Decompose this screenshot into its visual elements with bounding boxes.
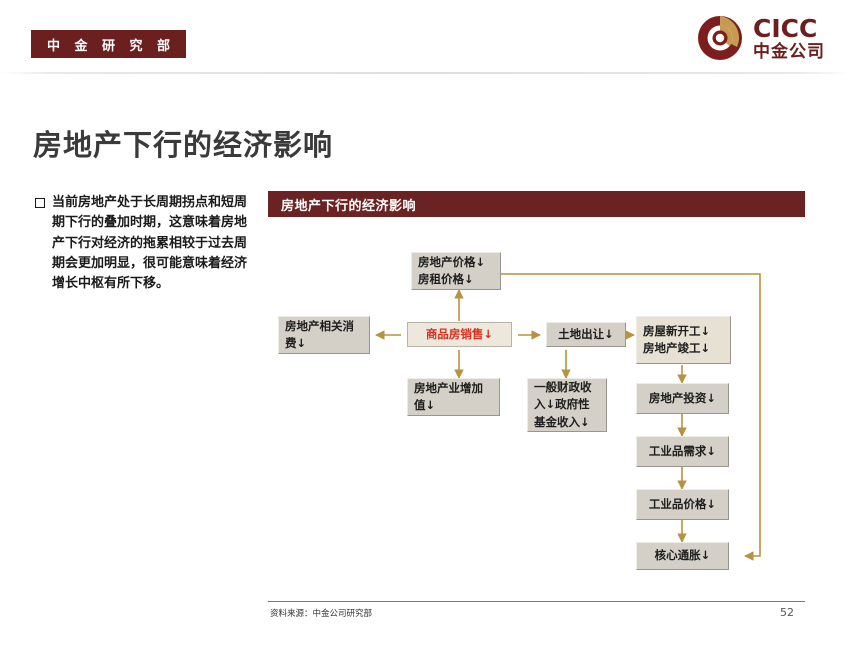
cicc-logo: CICC 中金公司 [696, 12, 825, 64]
cicc-logo-text: CICC 中金公司 [753, 16, 825, 61]
page-title: 房地产下行的经济影响 [33, 122, 333, 164]
square-bullet-icon [35, 198, 45, 208]
bullet-text: 当前房地产处于长周期拐点和短周期下行的叠加时期，这意味着房地产下行对经济的拖累相… [52, 193, 250, 294]
logo-chinese: 中金公司 [753, 44, 825, 61]
logo-latin: CICC [753, 16, 825, 41]
list-item: 当前房地产处于长周期拐点和短周期下行的叠加时期，这意味着房地产下行对经济的拖累相… [35, 193, 250, 294]
source-note: 资料来源：中金公司研究部 [270, 607, 372, 619]
node-industrial-price: 工业品价格↓ [636, 489, 729, 520]
flow-diagram: 房地产价格↓ 房租价格↓ 房地产相关消 费↓ 商品房销售↓ 土地出让↓ 房屋新开… [268, 217, 805, 587]
node-commodity-housing-sales: 商品房销售↓ [407, 322, 512, 347]
cicc-logo-mark-icon [696, 14, 744, 62]
page-number: 52 [780, 606, 794, 619]
research-dept-badge: 中 金 研 究 部 [31, 30, 186, 58]
node-core-inflation: 核心通胀↓ [636, 542, 729, 570]
bullet-list: 当前房地产处于长周期拐点和短周期下行的叠加时期，这意味着房地产下行对经济的拖累相… [35, 193, 250, 294]
node-realestate-value-added: 房地产业增加 值↓ [407, 378, 500, 416]
node-industrial-demand: 工业品需求↓ [636, 436, 729, 467]
exhibit-title-bar: 房地产下行的经济影响 [268, 191, 805, 217]
node-land-transfer: 土地出让↓ [546, 322, 626, 347]
slide: 中 金 研 究 部 CICC 中金公司 房地产下行的经济影响 当前房地产处于长周… [0, 0, 850, 656]
node-new-starts-completions: 房屋新开工↓ 房地产竣工↓ [636, 316, 731, 364]
footer-divider [268, 601, 805, 602]
header-divider [0, 72, 850, 74]
node-realestate-investment: 房地产投资↓ [636, 383, 729, 414]
node-fiscal-revenue: 一般财政收 入↓政府性 基金收入↓ [527, 378, 607, 432]
node-price: 房地产价格↓ 房租价格↓ [411, 252, 501, 290]
node-consumption: 房地产相关消 费↓ [278, 316, 370, 354]
